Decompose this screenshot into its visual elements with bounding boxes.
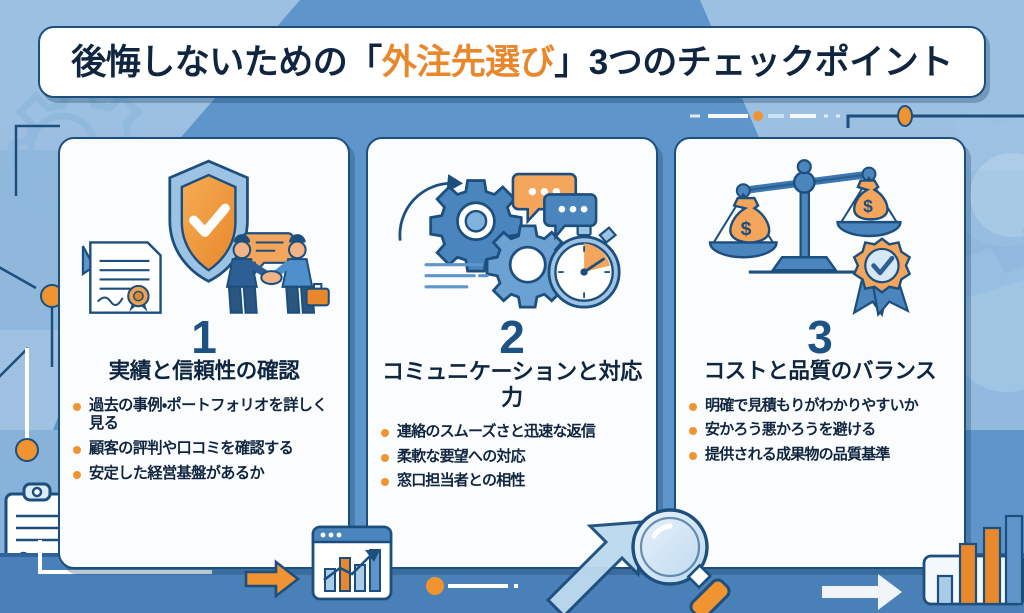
- page-title: 後悔しないための「外注先選び」3つのチェックポイント: [71, 45, 953, 80]
- stopwatch-icon: [549, 226, 619, 307]
- card-3-title: コストと品質のバランス: [704, 359, 937, 384]
- card-2-bullet-2: 柔軟な要望への対応: [380, 448, 644, 467]
- title-accent: 外注先選び: [382, 43, 555, 82]
- card-1-icon-group: [70, 147, 338, 325]
- svg-text:$: $: [741, 218, 752, 240]
- card-2-bullet-1: 連絡のスムーズさと迅速な返信: [380, 423, 644, 442]
- card-3-bullet-2: 安かろう悪かろうを避ける: [688, 421, 952, 440]
- card-3-illustration: $ $: [686, 147, 954, 325]
- card-3-bullet-list: 明確で見積もりがわかりやすいか 安かろう悪かろうを避ける 提供される成果物の品質…: [686, 397, 954, 471]
- infographic-canvas: 後悔しないための「外注先選び」3つのチェックポイント: [0, 0, 1024, 613]
- card-1-bullet-2: 顧客の評判や口コミを確認する: [72, 440, 336, 459]
- checkpoint-card-3[interactable]: $ $: [674, 137, 966, 569]
- checkpoint-cards: 1 実績と信頼性の確認 過去の事例・ポートフォリオを詳しく見る 顧客の評判や口コ…: [58, 137, 966, 569]
- title-prefix: 後悔しないための「: [71, 43, 382, 82]
- checkpoint-card-2[interactable]: 2 コミュニケーションと対応力 連絡のスムーズさと迅速な返信 柔軟な要望への対応…: [366, 137, 658, 569]
- card-3-bullet-1: 明確で見積もりがわかりやすいか: [688, 397, 952, 416]
- document-seal-icon: [83, 242, 161, 312]
- money-bag-icon-2: $: [854, 181, 887, 220]
- title-suffix: 」3つのチェックポイント: [554, 43, 952, 82]
- title-card: 後悔しないための「外注先選び」3つのチェックポイント: [38, 26, 986, 98]
- card-1-illustration: [70, 147, 338, 325]
- card-2-title: コミュニケーションと対応力: [378, 359, 646, 410]
- card-2-bullet-list: 連絡のスムーズさと迅速な返信 柔軟な要望への対応 窓口担当者との相性: [378, 423, 646, 497]
- card-3-icon-group: $ $: [686, 147, 954, 325]
- checkpoint-card-1[interactable]: 1 実績と信頼性の確認 過去の事例・ポートフォリオを詳しく見る 顧客の評判や口コ…: [58, 137, 350, 569]
- quality-badge-icon: [854, 239, 909, 315]
- card-1-bullet-list: 過去の事例・ポートフォリオを詳しく見る 顧客の評判や口コミを確認する 安定した経…: [70, 397, 338, 490]
- card-2-icon-group: [378, 147, 646, 325]
- card-2-illustration: [378, 147, 646, 325]
- svg-text:$: $: [863, 196, 873, 216]
- card-1-bullet-1: 過去の事例・ポートフォリオを詳しく見る: [72, 397, 336, 435]
- card-3-bullet-3: 提供される成果物の品質基準: [688, 446, 952, 465]
- card-1-bullet-3: 安定した経営基盤があるか: [72, 465, 336, 484]
- money-bag-icon: $: [730, 198, 769, 242]
- card-2-bullet-3: 窓口担当者との相性: [380, 472, 644, 491]
- card-1-title: 実績と信頼性の確認: [109, 359, 300, 384]
